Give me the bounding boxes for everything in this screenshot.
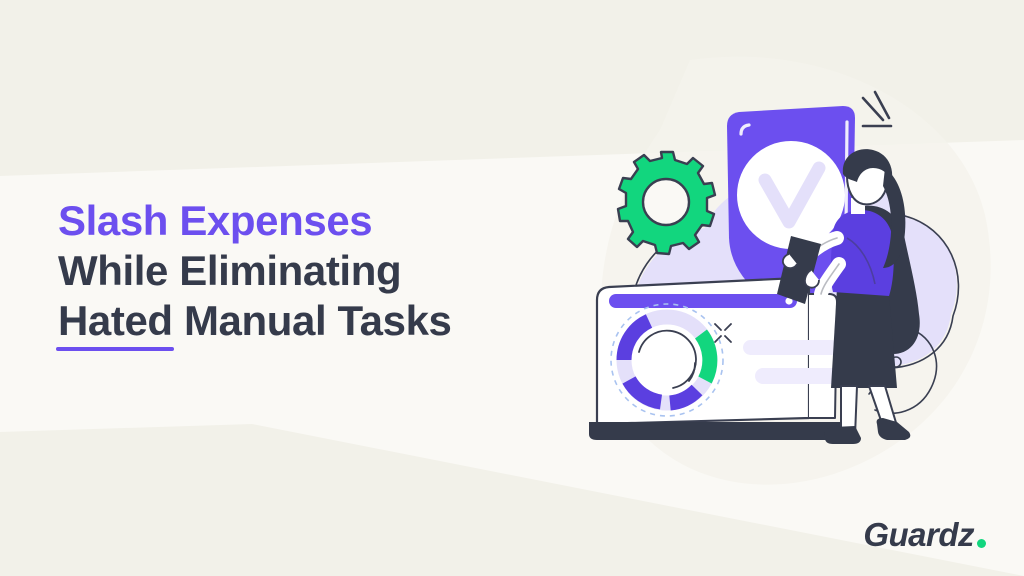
headline-line-3-rest: Manual Tasks — [173, 297, 452, 344]
promo-banner: Slash Expenses While Eliminating Hated M… — [0, 0, 1024, 576]
headline-block: Slash Expenses While Eliminating Hated M… — [58, 196, 618, 346]
hero-illustration — [575, 88, 995, 468]
laptop-dashboard — [589, 278, 865, 440]
headline-line-2: While Eliminating — [58, 246, 618, 296]
logo-wordmark: Guardz — [863, 518, 974, 552]
laptop-base — [589, 422, 855, 440]
logo-dot-icon — [977, 539, 986, 548]
browser-title-bar — [609, 294, 797, 308]
headline-line-1: Slash Expenses — [58, 196, 618, 246]
sparkle-marks-icon — [863, 92, 891, 126]
headline-underlined-word: Hated — [58, 296, 173, 346]
headline-line-3: Hated Manual Tasks — [58, 296, 618, 346]
guardz-logo[interactable]: Guardz — [863, 518, 986, 552]
